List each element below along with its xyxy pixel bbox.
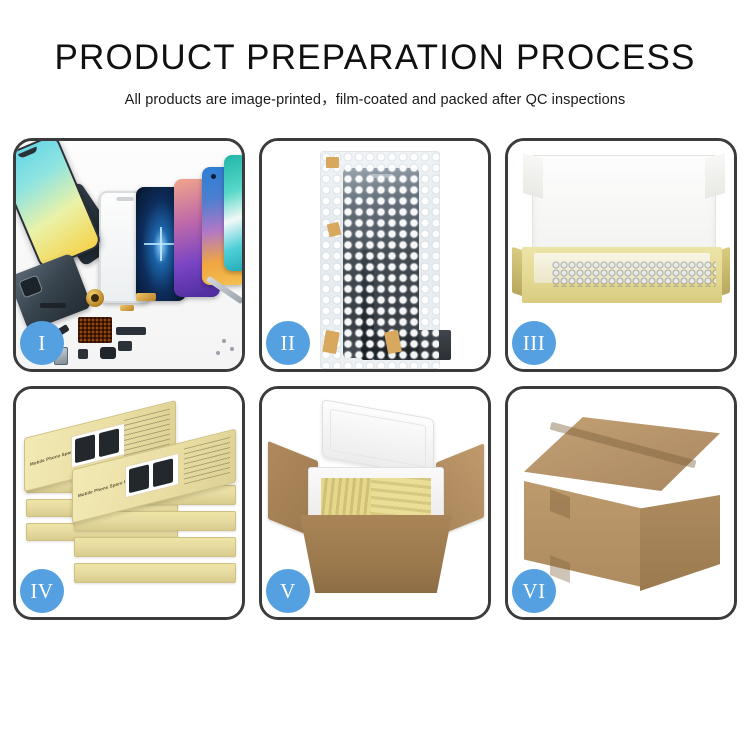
bubble-wrapped-contents: [552, 261, 716, 287]
process-step-grid: I II: [13, 138, 737, 620]
step-badge-4: IV: [20, 569, 64, 613]
process-step-1[interactable]: I: [13, 138, 245, 372]
flex-cable-part-c: [40, 303, 66, 308]
logic-board-part: [78, 317, 112, 343]
boxed-products-row-b: [371, 478, 431, 520]
step-badge-1: I: [20, 321, 64, 365]
phone-teal-wave-image: [224, 155, 242, 271]
screw-part-a: [222, 339, 226, 343]
screw-part-b: [230, 347, 234, 351]
gold-connector-part-a: [136, 293, 156, 301]
process-step-5[interactable]: V: [259, 386, 491, 620]
step-badge-5: V: [266, 569, 310, 613]
box-tray-inner: [534, 253, 710, 283]
chip-part-a: [118, 341, 132, 351]
tape-strip-1: [326, 157, 339, 168]
process-step-3[interactable]: III: [505, 138, 737, 372]
foam-box-lid: [322, 399, 434, 477]
page-title: PRODUCT PREPARATION PROCESS: [0, 40, 750, 77]
chip-part-b: [78, 349, 88, 359]
carton-side-face: [640, 495, 720, 591]
process-step-6[interactable]: VI: [505, 386, 737, 620]
step-badge-3: III: [512, 321, 556, 365]
process-step-2[interactable]: II: [259, 138, 491, 372]
box-spec-lines-front: [184, 437, 230, 484]
speaker-part: [100, 347, 116, 359]
stacked-box-layer-7: [74, 537, 236, 557]
screw-part-c: [216, 351, 220, 355]
stacked-box-layer-8: [74, 563, 236, 583]
step-badge-6: VI: [512, 569, 556, 613]
product-preparation-poster: PRODUCT PREPARATION PROCESS All products…: [0, 0, 750, 750]
step-badge-2: II: [266, 321, 310, 365]
page-subtitle: All products are image-printed，film-coat…: [0, 88, 750, 109]
header: PRODUCT PREPARATION PROCESS All products…: [0, 0, 750, 109]
box-tray: [522, 247, 722, 303]
gold-connector-part-b: [120, 305, 134, 311]
process-step-4[interactable]: Mobile Phone Spare Parts Mobile Phone Sp…: [13, 386, 245, 620]
flex-cable-part-b: [116, 327, 146, 335]
outer-carton-open: [300, 515, 452, 593]
vibration-motor-part: [86, 289, 104, 307]
